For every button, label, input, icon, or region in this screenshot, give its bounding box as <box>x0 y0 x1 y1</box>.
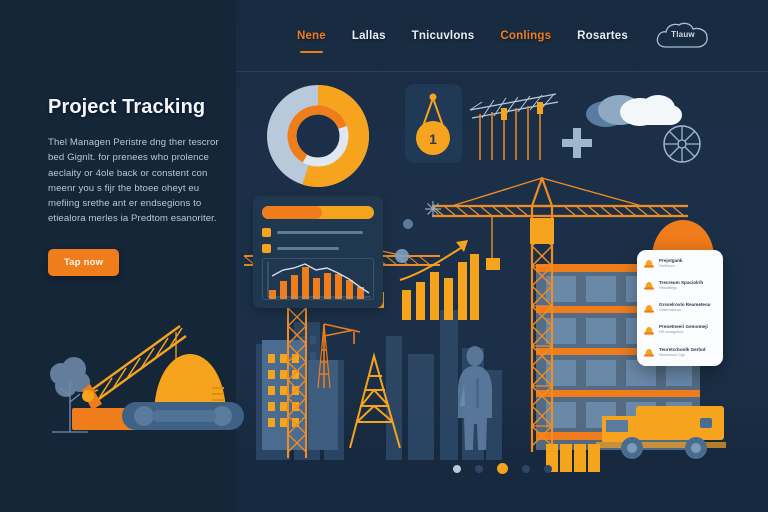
slide-dots <box>236 463 768 474</box>
plus-icon <box>562 128 592 158</box>
slide-dot-5[interactable] <box>544 465 552 473</box>
growth-bar-chart <box>398 228 480 320</box>
hero-copy: Project Tracking Thel Managen Peristre d… <box>48 96 230 276</box>
crane-jib-icon <box>468 92 560 164</box>
hero-screenshot: 1 <box>0 0 768 512</box>
checkbox-icon[interactable] <box>262 228 271 237</box>
nav-item-lallas[interactable]: Lallas <box>352 30 386 42</box>
list-item[interactable]: Teuretcrbonlk Gerlud Serseoucri Cgu <box>644 347 716 359</box>
hardhat-icon <box>644 258 654 269</box>
task-list-card[interactable]: Prejstgank Gerflaurs Trecreum Spaciolrih… <box>637 250 723 366</box>
list-item[interactable]: Preoetneeri Gemomeji Hfl vuoriguires <box>644 324 716 336</box>
project-completion-donut <box>262 80 374 192</box>
sparkle-icon <box>424 200 442 218</box>
hardhat-icon <box>644 347 654 358</box>
checklist-text <box>277 247 339 251</box>
nav-item-tnicuvlons[interactable]: Tnicuvlons <box>412 30 475 42</box>
list-item-subtitle: Gerflaurs <box>659 264 716 270</box>
slide-dot-3[interactable] <box>497 463 508 474</box>
wheel-icon <box>662 124 702 164</box>
hardhat-icon <box>644 280 654 291</box>
hardhat-icon <box>644 325 654 336</box>
badge-number: 1 <box>429 131 437 147</box>
progress-bar-fill <box>262 206 322 219</box>
list-item[interactable]: Prejstgank Gerflaurs <box>644 258 716 270</box>
checkbox-icon[interactable] <box>262 244 271 253</box>
milestone-badge: 1 <box>405 84 462 163</box>
progress-bar <box>262 206 374 219</box>
hero-description: Thel Managen Peristre dng ther tescror b… <box>48 135 230 227</box>
list-item[interactable] <box>262 228 374 237</box>
page-title: Project Tracking <box>48 96 230 119</box>
progress-dashboard <box>253 196 383 308</box>
slide-dot-1[interactable] <box>453 465 461 473</box>
truck-icon <box>596 398 728 462</box>
list-item[interactable]: Grsselrovlo Reameteou Geterrebicou <box>644 302 716 314</box>
list-item-subtitle: Geterrebicou <box>659 308 716 314</box>
nav-item-nene[interactable]: Nene <box>297 30 326 42</box>
cta-button[interactable]: Tap now <box>48 249 119 276</box>
slide-dot-4[interactable] <box>522 465 530 473</box>
list-item-subtitle: Hfoedflegs <box>659 286 716 292</box>
main-navigation: Nene Lallas Tnicuvlons Conlings Rosartes… <box>236 0 768 72</box>
crawler-track-icon <box>122 390 244 436</box>
list-item-subtitle: Serseoucri Cgu <box>659 353 716 359</box>
nav-item-rosartes[interactable]: Rosartes <box>577 30 628 42</box>
nav-item-conlings[interactable]: Conlings <box>500 30 551 42</box>
dashboard-bar-chart <box>262 258 374 300</box>
list-item-subtitle: Hfl vuoriguires <box>659 330 716 336</box>
cloud-label: Tlauw <box>654 30 712 39</box>
checklist <box>262 228 374 253</box>
slide-dot-2[interactable] <box>475 465 483 473</box>
hardhat-icon <box>644 303 654 314</box>
checklist-text <box>277 231 363 235</box>
left-illustration <box>40 318 240 443</box>
cloud-icon[interactable]: Tlauw <box>654 21 712 51</box>
list-item[interactable]: Trecreum Spaciolrih Hfoedflegs <box>644 280 716 292</box>
list-item[interactable] <box>262 244 374 253</box>
